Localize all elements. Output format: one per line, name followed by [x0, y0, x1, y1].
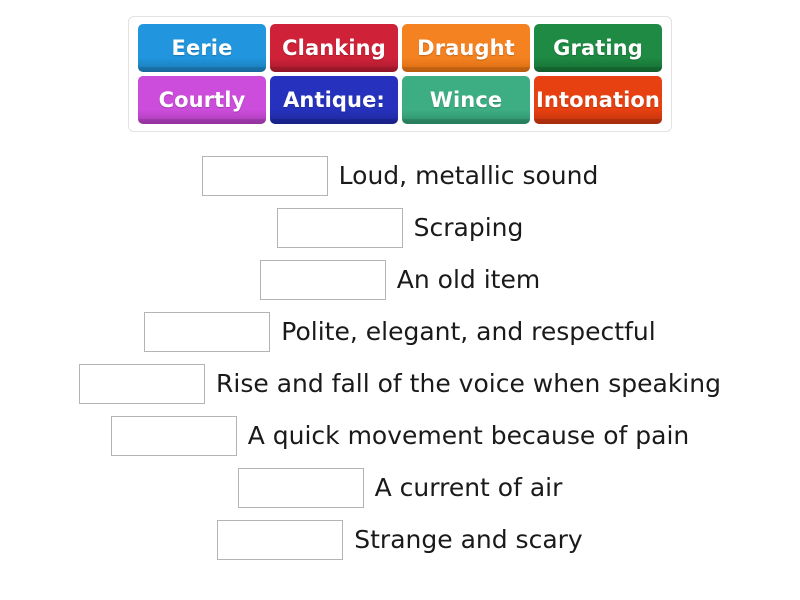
- definition-text: A quick movement because of pain: [248, 422, 690, 450]
- word-bank-container: EerieClankingDraughtGratingCourtlyAntiqu…: [0, 0, 800, 132]
- answer-drop-box[interactable]: [111, 416, 237, 456]
- answer-drop-box[interactable]: [79, 364, 205, 404]
- answer-row: Polite, elegant, and respectful: [144, 306, 655, 358]
- word-tile-label: Draught: [417, 38, 515, 59]
- definition-text: Loud, metallic sound: [339, 162, 599, 190]
- answer-row: A current of air: [238, 462, 563, 514]
- definition-text: Strange and scary: [354, 526, 582, 554]
- answer-row: A quick movement because of pain: [111, 410, 690, 462]
- answer-drop-box[interactable]: [202, 156, 328, 196]
- definition-text: An old item: [397, 266, 540, 294]
- word-tile[interactable]: Grating: [534, 24, 662, 72]
- activity-page: EerieClankingDraughtGratingCourtlyAntiqu…: [0, 0, 800, 600]
- word-tile[interactable]: Wince: [402, 76, 530, 124]
- answer-drop-box[interactable]: [277, 208, 403, 248]
- word-tile-label: Wince: [430, 90, 503, 111]
- answer-drop-box[interactable]: [260, 260, 386, 300]
- answer-row: Rise and fall of the voice when speaking: [79, 358, 721, 410]
- answer-row: Strange and scary: [217, 514, 582, 566]
- word-bank: EerieClankingDraughtGratingCourtlyAntiqu…: [128, 16, 672, 132]
- definition-text: Polite, elegant, and respectful: [281, 318, 655, 346]
- definition-text: Scraping: [414, 214, 524, 242]
- word-tile[interactable]: Intonation: [534, 76, 662, 124]
- word-tile-label: Eerie: [172, 38, 233, 59]
- answer-drop-box[interactable]: [144, 312, 270, 352]
- word-tile[interactable]: Clanking: [270, 24, 398, 72]
- word-tile[interactable]: Eerie: [138, 24, 266, 72]
- answer-drop-box[interactable]: [217, 520, 343, 560]
- word-tile-label: Antique:: [283, 90, 385, 111]
- answer-row: Loud, metallic sound: [202, 150, 599, 202]
- answer-row: An old item: [260, 254, 540, 306]
- word-tile[interactable]: Antique:: [270, 76, 398, 124]
- word-tile-row: EerieClankingDraughtGrating: [136, 24, 664, 72]
- word-tile-label: Grating: [553, 38, 643, 59]
- definition-text: Rise and fall of the voice when speaking: [216, 370, 721, 398]
- word-tile-label: Intonation: [536, 90, 660, 111]
- word-tile[interactable]: Courtly: [138, 76, 266, 124]
- answer-drop-box[interactable]: [238, 468, 364, 508]
- word-tile-label: Courtly: [159, 90, 246, 111]
- word-tile-row: CourtlyAntique:WinceIntonation: [136, 76, 664, 124]
- word-tile-label: Clanking: [282, 38, 386, 59]
- word-tile[interactable]: Draught: [402, 24, 530, 72]
- answer-row: Scraping: [277, 202, 524, 254]
- answer-list: Loud, metallic soundScrapingAn old itemP…: [0, 150, 800, 566]
- definition-text: A current of air: [375, 474, 563, 502]
